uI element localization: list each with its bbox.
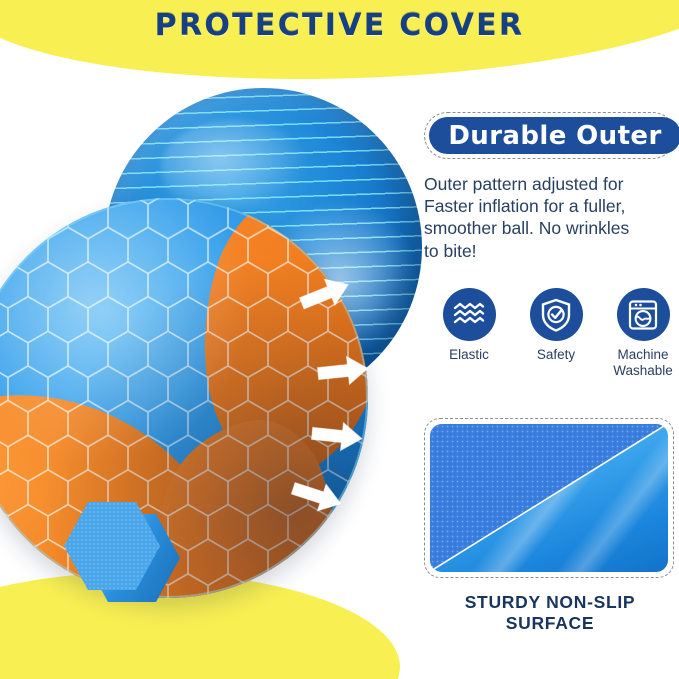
infographic-canvas: PROTECTIVE COVER Durable Outer Outer pat… [0,0,679,679]
washing-machine-icon [627,299,659,331]
inflation-arrow-icon [297,272,354,317]
inflation-arrow-icon [311,419,364,452]
feature-icon-badge [443,288,496,341]
feature-safety: Safety [519,288,593,380]
inflation-arrow-icon [317,354,370,387]
description-line: Outer pattern adjusted for [424,173,674,195]
feature-label-line1: Machine [606,347,679,363]
nonslip-surface-panel [424,418,674,578]
description-line: Faster inflation for a fuller, [424,195,674,217]
feature-label-line2: Washable [606,363,679,379]
feature-label: Safety [519,347,593,363]
durable-outer-section: Durable Outer Outer pattern adjusted for… [424,112,679,262]
product-illustration [0,60,420,640]
description-line: to bite! [424,240,674,262]
page-title: PROTECTIVE COVER [0,8,679,43]
feature-label: Machine Washable [606,347,679,380]
nonslip-surface-caption: STURDY NON-SLIP SURFACE [424,592,676,634]
durable-outer-description: Outer pattern adjusted for Faster inflat… [424,173,674,262]
feature-elastic: Elastic [432,288,506,380]
feature-machine-washable: Machine Washable [606,288,679,380]
feature-icon-badge [530,288,583,341]
diagonal-divider-line [430,424,668,572]
description-line: smoother ball. No wrinkles [424,217,674,239]
feature-icon-badge [617,288,670,341]
feature-icons-row: Elastic Safety [432,288,679,380]
shield-check-icon [540,298,572,332]
durable-outer-badge-outline: Durable Outer [424,112,676,159]
wave-lines-icon [452,300,486,330]
feature-label: Elastic [432,347,506,363]
durable-outer-badge-label: Durable Outer [448,121,661,151]
inflation-arrows-group [0,60,420,640]
inflation-arrow-icon [289,475,345,517]
durable-outer-badge: Durable Outer [429,117,679,154]
header-banner: PROTECTIVE COVER [0,0,679,92]
nonslip-surface-image [430,424,668,572]
